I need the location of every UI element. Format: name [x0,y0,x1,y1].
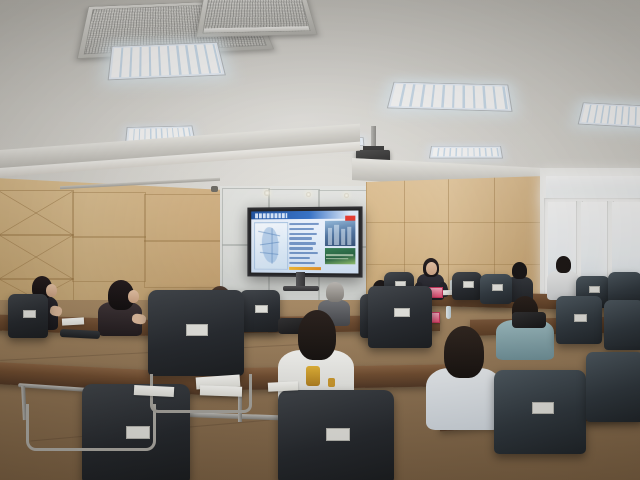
ceiling-light-4 [429,146,503,159]
water-bottle-2 [446,306,451,319]
chair-mid-1[interactable] [8,294,48,338]
slide-text-line [289,252,318,254]
chair-seat-tag [574,314,587,322]
photo-strip [326,258,347,260]
chair-base-frame [26,404,156,451]
wall-camera [211,186,218,192]
chair-seat-tag [463,281,474,288]
wood-panel-plain-1 [72,192,146,238]
paper-mid-1 [62,317,84,325]
display-stand-foot [283,286,319,291]
chair-front-2[interactable] [278,390,394,480]
chair-seat-tag [589,286,600,293]
wood-panel-x-2 [0,234,74,280]
attendee-7-hair [444,326,484,378]
slide-content [251,211,358,274]
person-attendee-10 [546,256,580,300]
photo-building [328,228,332,244]
photo-building [334,225,339,245]
photo-building [342,229,346,245]
chair-seat-tag [326,428,350,441]
wood-panel-plain-3 [144,194,226,242]
wood-panel-x-1 [0,190,74,236]
wood-hseam-1 [366,222,546,223]
slide-photo-city [325,221,356,246]
attendee-5-hair [326,282,344,302]
chair-seat-tag [186,324,208,336]
presenter-head [426,262,437,275]
wall-spotlight-2 [306,192,311,197]
slide-text-line [289,228,314,230]
chair-seat-tag [394,308,410,317]
chair-front-3[interactable] [148,290,244,376]
slide-accent-bar [289,267,321,270]
slide-text-block [289,223,321,268]
photo-strip [326,254,353,256]
person-attendee-7 [424,326,504,430]
window-transom [546,176,640,198]
wood-panel-plain-4 [144,240,226,288]
meeting-room-photo [0,0,640,480]
presentation-display[interactable] [247,206,362,277]
slide-photo-landscape [325,248,356,264]
chair-seat-tag [255,305,268,313]
light-diffuser [391,84,509,109]
chair-seat-tag [492,284,503,291]
paper-front-3 [200,385,242,396]
slide-text-line [289,237,311,239]
chair-mid-6[interactable] [604,300,640,350]
slide-map-graphic [254,222,287,270]
attendee-2-head [128,290,139,303]
chair-back-2[interactable] [452,272,482,300]
attendee-1-head [46,284,57,297]
slide-text-line [289,242,316,244]
photo-building [347,227,352,245]
person-attendee-2 [96,280,144,336]
light-diffuser [432,148,499,156]
light-diffuser [581,105,640,127]
chair-mid-5[interactable] [556,296,602,344]
slide-text-line [289,233,317,235]
slide-text-line [289,262,315,264]
bag-right [512,312,546,328]
chair-front-5[interactable] [494,370,586,454]
chair-seat-tag [23,310,36,318]
attendee-4-shirt-graphic [306,366,320,386]
attendee-4-hair [298,310,336,360]
wall-spotlight-3 [344,193,349,198]
chair-seat-tag [532,402,554,414]
paper-front-4 [268,381,298,392]
attendee-4-shirt-graphic-small [328,378,335,387]
slide-text-line [289,223,319,225]
projector-mount-pole [371,126,376,148]
slide-text-line [289,247,313,249]
ac-cassette-right-unit [196,0,318,37]
paper-front-2 [134,385,174,397]
map-coastline [272,228,273,263]
chair-front-4[interactable] [368,286,432,348]
attendee-10-hair [556,256,571,273]
attendee-9-hair [512,262,527,279]
wall-spotlight-1 [264,190,270,196]
wood-panel-plain-2 [72,236,146,282]
chair-mid-3[interactable] [240,290,280,332]
ceiling-light-5 [578,102,640,128]
ceiling-light-1 [108,42,226,80]
light-diffuser [111,44,222,77]
chair-front-6[interactable] [586,352,640,422]
slide-text-line [289,257,310,259]
ceiling-light-3 [387,82,513,112]
slide-title-text [255,213,287,218]
